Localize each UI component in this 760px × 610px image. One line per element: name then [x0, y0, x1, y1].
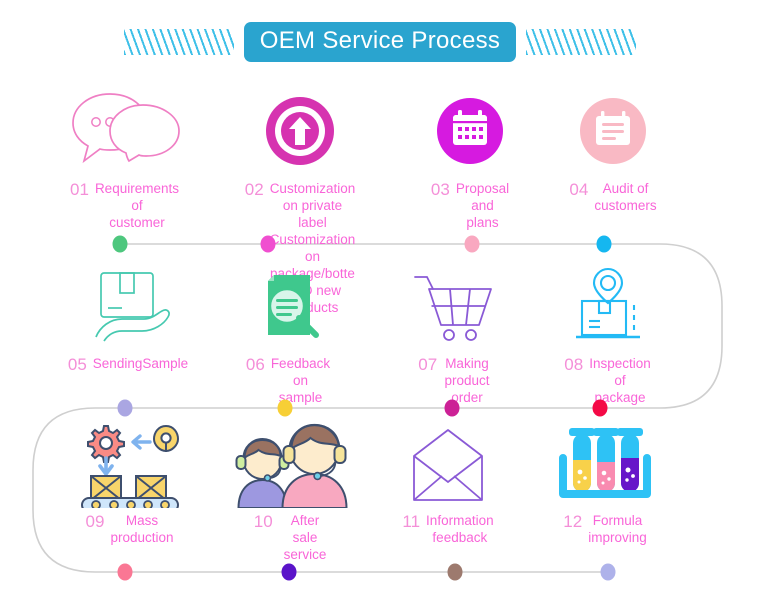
step-03-label: Proposal and plans [456, 180, 509, 231]
node-dot-08[interactable] [593, 400, 608, 417]
speech-bubbles-icon [67, 88, 183, 168]
step-08-caption: 08 Inspection of package [564, 355, 650, 406]
node-dot-11[interactable] [448, 564, 463, 581]
step-07-icon-box [409, 265, 501, 345]
node-dot-04[interactable] [597, 236, 612, 253]
step-06-label: Feedback on sample [271, 355, 330, 406]
node-dot-09[interactable] [118, 564, 133, 581]
step-08-number: 08 [564, 355, 583, 374]
step-11-icon-box [408, 420, 488, 508]
node-dot-05[interactable] [118, 400, 133, 417]
step-07-number: 07 [418, 355, 437, 374]
step-08-label: Inspection of package [589, 355, 651, 406]
step-10-caption: 10 After sale service [254, 512, 332, 563]
step-12-number: 12 [563, 512, 582, 531]
step-07-label: Making product order [443, 355, 491, 406]
step-10-icon-box [230, 420, 355, 508]
step-04-number: 04 [569, 180, 588, 199]
step-09-label: Mass production [110, 512, 173, 546]
infographic-canvas: OEM Service Process 01 Requirements of c… [0, 0, 760, 610]
calendar-icon [434, 94, 506, 168]
step-09-number: 09 [86, 512, 105, 531]
step-09-icon-box [76, 420, 184, 508]
node-dot-01[interactable] [113, 236, 128, 253]
node-dot-10[interactable] [282, 564, 297, 581]
step-02-number: 02 [245, 180, 264, 199]
node-dot-07[interactable] [445, 400, 460, 417]
step-01-caption: 01 Requirements of customer [70, 180, 179, 231]
step-12-icon-box [555, 420, 655, 508]
step-01-icon-box [67, 88, 183, 168]
conveyor-production-icon [76, 420, 184, 508]
step-11-caption: 11 Information feedback [402, 512, 493, 546]
step-05-caption: 05 SendingSample [68, 355, 188, 374]
step-06-caption: 06 Feedback on sample [246, 355, 330, 406]
step-06-number: 06 [246, 355, 265, 374]
document-search-icon [250, 267, 326, 345]
test-tubes-icon [555, 420, 655, 508]
node-dot-03[interactable] [465, 236, 480, 253]
document-badge-icon [577, 94, 649, 168]
step-03-caption: 03 Proposal and plans [431, 180, 509, 231]
node-dot-02[interactable] [261, 236, 276, 253]
step-12-label: Formula improving [588, 512, 647, 546]
node-dot-06[interactable] [278, 400, 293, 417]
step-08-icon-box [566, 265, 650, 345]
hand-package-icon [82, 267, 174, 345]
step-05-label: SendingSample [93, 355, 188, 372]
step-10-number: 10 [254, 512, 273, 531]
step-02-icon-box [264, 88, 336, 168]
step-03-number: 03 [431, 180, 450, 199]
step-05-number: 05 [68, 355, 87, 374]
step-06-icon-box [250, 265, 326, 345]
step-10-label: After sale service [279, 512, 332, 563]
step-01-label: Requirements of customer [95, 180, 179, 231]
step-07-caption: 07 Making product order [418, 355, 491, 406]
step-04-caption: 04 Audit of customers [569, 180, 656, 214]
step-11-number: 11 [402, 512, 420, 531]
step-05-icon-box [82, 265, 174, 345]
step-03-icon-box [434, 88, 506, 168]
step-12-caption: 12 Formula improving [563, 512, 646, 546]
step-09-caption: 09 Mass production [86, 512, 174, 546]
upload-circle-icon [264, 94, 336, 168]
node-dot-12[interactable] [601, 564, 616, 581]
open-envelope-icon [408, 420, 488, 508]
step-11-label: Information feedback [426, 512, 494, 546]
package-location-icon [566, 267, 650, 345]
step-04-icon-box [577, 88, 649, 168]
shopping-cart-icon [409, 267, 501, 345]
step-01-number: 01 [70, 180, 89, 199]
step-04-label: Audit of customers [594, 180, 656, 214]
support-agents-icon [230, 420, 355, 508]
